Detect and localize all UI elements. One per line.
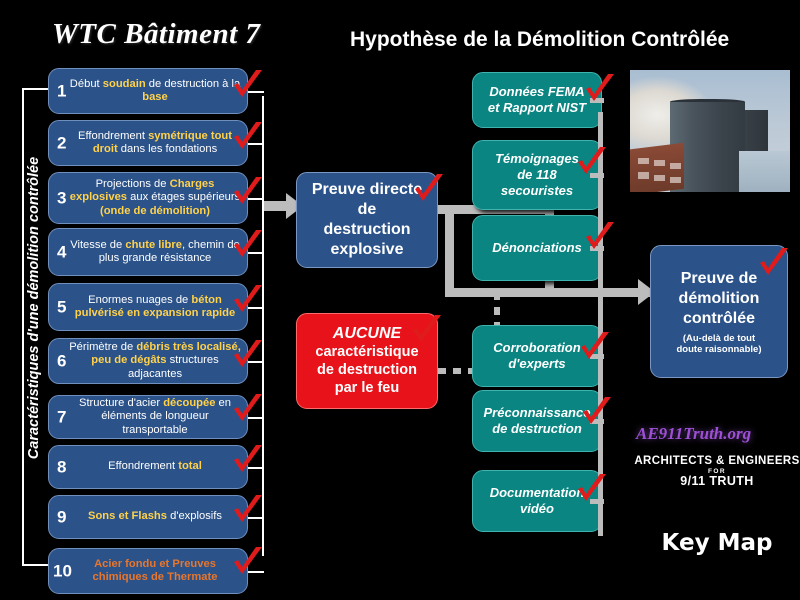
characteristic-connector-1 — [248, 91, 264, 93]
evidence-label-fema-nist: Données FEMAet Rapport NIST — [473, 84, 601, 116]
evidence-label-expert-corroboration: Corroborationd'experts — [473, 340, 601, 372]
characteristic-number-2: 2 — [57, 136, 66, 150]
characteristic-number-4: 4 — [57, 245, 66, 259]
arrow-to-direct-proof-shaft — [264, 201, 288, 211]
characteristic-connector-10 — [248, 571, 264, 573]
characteristic-number-3: 3 — [57, 191, 66, 205]
evidence-box-testimonies[interactable]: Témoignagesde 118secouristes — [472, 140, 602, 210]
characteristic-text-3: Projections de Charges explosives aux ét… — [49, 178, 247, 219]
characteristics-rail — [262, 96, 264, 556]
ae911truth-line1: ARCHITECTS & ENGINEERS — [631, 455, 800, 467]
key-map-label: Key Map — [631, 530, 800, 556]
no-fire-evidence-box[interactable]: AUCUNEcaractéristiquede destructionpar l… — [296, 313, 438, 409]
characteristic-number-7: 7 — [57, 410, 66, 424]
evidence-box-denunciations[interactable]: Dénonciations — [472, 215, 602, 281]
direct-proof-box[interactable]: Preuve directededestructionexplosive — [296, 172, 438, 268]
evidence-box-expert-corroboration[interactable]: Corroborationd'experts — [472, 325, 602, 387]
vertical-axis-label: Caractéristiques d'une démolition contrô… — [26, 128, 42, 488]
characteristic-box-8[interactable]: 8Effondrement total — [48, 445, 248, 489]
characteristic-box-9[interactable]: 9Sons et Flashs d'explosifs — [48, 495, 248, 539]
characteristic-box-2[interactable]: 2Effondrement symétrique tout droit dans… — [48, 120, 248, 166]
arrow-to-final-shaft — [600, 288, 642, 297]
characteristic-box-6[interactable]: 6Périmètre de débris très localisé, peu … — [48, 338, 248, 384]
wtc7-photo — [630, 70, 790, 192]
characteristic-text-8: Effondrement total — [49, 460, 247, 474]
final-conclusion-label: Preuve dedémolitioncontrôlée — [645, 269, 793, 329]
characteristic-box-4[interactable]: 4Vitesse de chute libre, chemin de plus … — [48, 228, 248, 276]
photo-window — [670, 177, 681, 183]
characteristic-text-6: Périmètre de débris très localisé, peu d… — [49, 341, 247, 382]
ae911truth-line3: 9/11 TRUTH — [631, 474, 800, 488]
left-bracket-vertical — [22, 88, 24, 566]
direct-proof-label: Preuve directededestructionexplosive — [297, 180, 437, 260]
photo-window — [638, 172, 649, 178]
page-title-left: WTC Bâtiment 7 — [52, 18, 260, 51]
characteristic-box-3[interactable]: 3Projections de Charges explosives aux é… — [48, 172, 248, 224]
characteristic-box-7[interactable]: 7Structure d'acier découpée en éléments … — [48, 395, 248, 439]
no-fire-evidence-label: AUCUNEcaractéristiquede destructionpar l… — [297, 325, 437, 397]
photo-window — [670, 163, 681, 169]
photo-window — [638, 158, 649, 164]
characteristic-text-4: Vitesse de chute libre, chemin de plus g… — [49, 239, 247, 266]
characteristic-number-10: 10 — [53, 564, 72, 578]
evidence-box-foreknowledge[interactable]: Préconnaissancede destruction — [472, 390, 602, 452]
photo-window — [654, 175, 665, 181]
characteristic-text-2: Effondrement symétrique tout droit dans … — [49, 130, 247, 157]
evidence-box-fema-nist[interactable]: Données FEMAet Rapport NIST — [472, 72, 602, 128]
evidence-label-foreknowledge: Préconnaissancede destruction — [473, 405, 601, 437]
final-conclusion-box[interactable]: Preuve dedémolitioncontrôlée (Au-delà de… — [650, 245, 788, 378]
characteristic-box-5[interactable]: 5Enormes nuages de béton pulvérisé en ex… — [48, 283, 248, 331]
characteristic-number-9: 9 — [57, 510, 66, 524]
characteristic-text-7: Structure d'acier découpée en éléments d… — [49, 397, 247, 438]
evidence-label-testimonies: Témoignagesde 118secouristes — [473, 151, 601, 199]
evidence-box-video[interactable]: Documentationvidéo — [472, 470, 602, 532]
characteristic-box-10[interactable]: 10Acier fondu et Preuves chimiques de Th… — [48, 548, 248, 594]
characteristic-number-6: 6 — [57, 354, 66, 368]
final-conclusion-sublabel: (Au-delà de toutdoute raisonnable) — [645, 333, 793, 355]
page-title-right: Hypothèse de la Démolition Contrôlée — [350, 28, 729, 52]
ae911truth-logo[interactable]: AE911Truth.org — [636, 424, 751, 444]
characteristic-text-10: Acier fondu et Preuves chimiques de Ther… — [49, 558, 247, 585]
characteristic-text-5: Enormes nuages de béton pulvérisé en exp… — [49, 294, 247, 321]
characteristic-number-1: 1 — [57, 84, 66, 98]
evidence-label-denunciations: Dénonciations — [473, 240, 601, 256]
evidence-collector-rail — [598, 112, 603, 536]
photo-glass-building — [739, 151, 790, 192]
evidence-connector-fema-nist — [590, 98, 604, 103]
characteristic-number-5: 5 — [57, 300, 66, 314]
characteristic-box-1[interactable]: 1Début soudain de destruction à la base — [48, 68, 248, 114]
characteristic-text-9: Sons et Flashs d'explosifs — [49, 510, 247, 524]
evidence-rail-left-v — [445, 205, 454, 297]
evidence-label-video: Documentationvidéo — [473, 485, 601, 517]
characteristic-text-1: Début soudain de destruction à la base — [49, 78, 247, 105]
photo-window — [654, 160, 665, 166]
characteristic-number-8: 8 — [57, 460, 66, 474]
slide-canvas: WTC Bâtiment 7 Hypothèse de la Démolitio… — [0, 0, 800, 600]
